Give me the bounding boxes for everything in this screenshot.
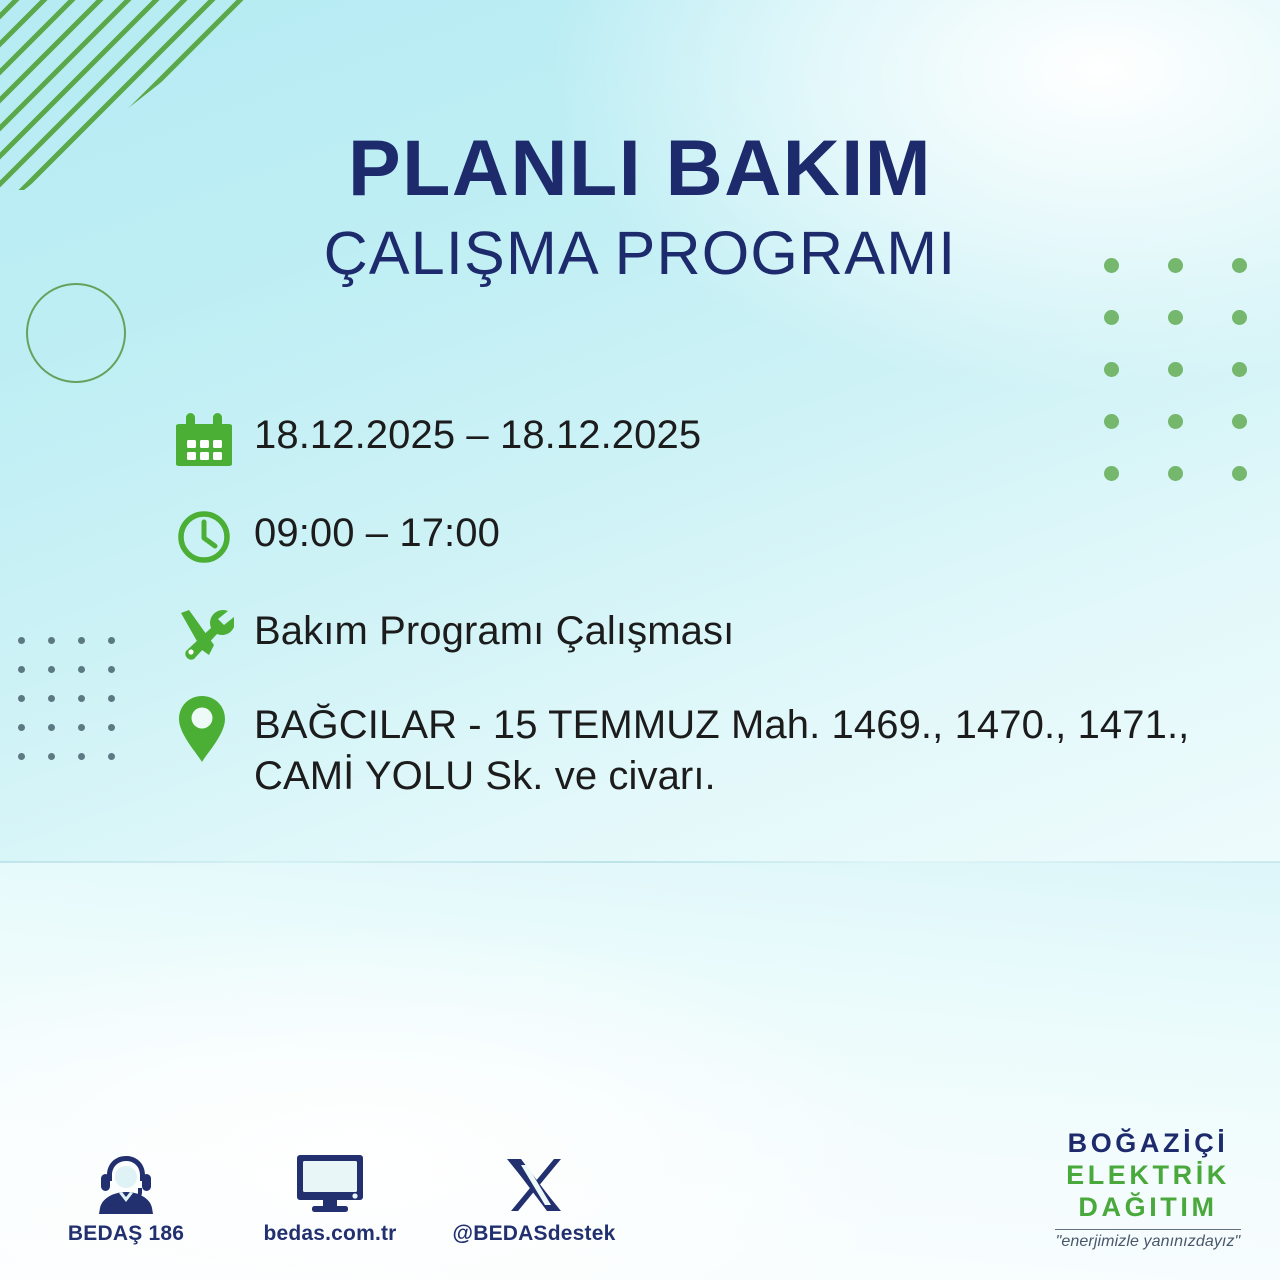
contact-social-label: @BEDASdestek xyxy=(453,1222,616,1246)
calendar-icon xyxy=(176,406,254,470)
footer-contacts: BEDAŞ 186 bedas.com.tr xyxy=(52,1148,608,1246)
brand-line-dagitim: DAĞITIM xyxy=(1042,1192,1254,1224)
outage-details-list: 18.12.2025 – 18.12.2025 09:00 – 17:00 xyxy=(176,406,1236,802)
detail-row-date: 18.12.2025 – 18.12.2025 xyxy=(176,406,1236,470)
detail-work-type-value: Bakım Programı Çalışması xyxy=(254,602,1236,657)
brand-divider xyxy=(1055,1229,1241,1231)
detail-row-time: 09:00 – 17:00 xyxy=(176,504,1236,568)
detail-row-work-type: Bakım Programı Çalışması xyxy=(176,602,1236,666)
brand-logo: BOĞAZİÇİ ELEKTRİK DAĞITIM "enerjimizle y… xyxy=(1042,1128,1254,1251)
x-social-icon xyxy=(504,1148,564,1214)
detail-date-value: 18.12.2025 – 18.12.2025 xyxy=(254,406,1236,461)
poster-canvas: PLANLI BAKIM ÇALIŞMA PROGRAMI 18.12.2025… xyxy=(0,0,1280,1280)
monitor-icon xyxy=(293,1148,367,1214)
clock-icon xyxy=(176,504,254,568)
tools-icon xyxy=(176,602,254,666)
map-pin-icon xyxy=(176,696,254,760)
circle-outline-decoration xyxy=(26,283,126,383)
call-center-agent-icon xyxy=(90,1148,162,1214)
page-subtitle: ÇALIŞMA PROGRAMI xyxy=(0,223,1280,284)
contact-website-label: bedas.com.tr xyxy=(263,1222,396,1246)
contact-social[interactable]: @BEDASdestek xyxy=(460,1148,608,1246)
contact-phone[interactable]: BEDAŞ 186 xyxy=(52,1148,200,1246)
brand-line-bogazici: BOĞAZİÇİ xyxy=(1042,1128,1254,1160)
brand-line-elektrik: ELEKTRİK xyxy=(1042,1160,1254,1192)
detail-row-location: BAĞCILAR - 15 TEMMUZ Mah. 1469., 1470., … xyxy=(176,696,1236,802)
page-title: PLANLI BAKIM xyxy=(0,128,1280,207)
brand-tagline: "enerjimizle yanınızdayız" xyxy=(1042,1233,1254,1251)
detail-location-value: BAĞCILAR - 15 TEMMUZ Mah. 1469., 1470., … xyxy=(254,696,1236,802)
detail-time-value: 09:00 – 17:00 xyxy=(254,504,1236,559)
contact-phone-label: BEDAŞ 186 xyxy=(68,1222,184,1246)
page-title-block: PLANLI BAKIM ÇALIŞMA PROGRAMI xyxy=(0,128,1280,284)
dot-grid-left-decoration xyxy=(18,637,138,782)
contact-website[interactable]: bedas.com.tr xyxy=(256,1148,404,1246)
background-seam-line xyxy=(0,861,1280,863)
